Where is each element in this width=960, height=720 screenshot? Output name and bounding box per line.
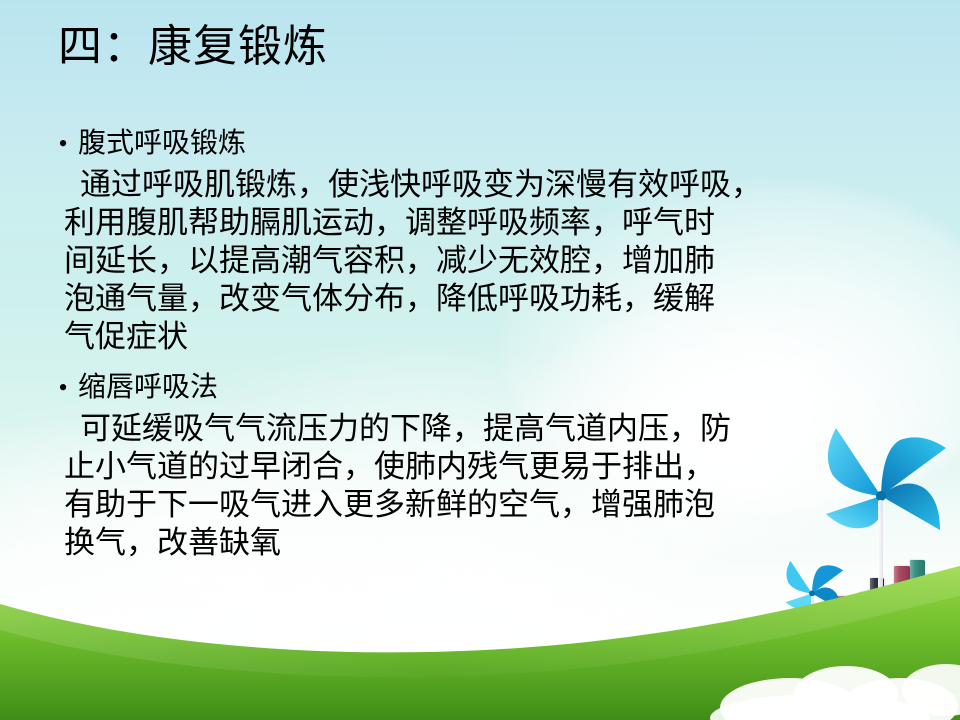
slide-canvas: 四：康复锻炼 • 腹式呼吸锻炼 通过呼吸肌锻炼，使浅快呼吸变为深慢有效呼吸， 利… [0,0,960,720]
paragraph-line: 气促症状 [64,318,928,356]
pencil-tip-icon [948,580,956,590]
crayon-row [770,649,821,664]
paragraph-line: 可延缓吸气气流压力的下降，提高气道内压，防 [64,410,928,448]
paragraph: 可延缓吸气气流压力的下降，提高气道内压，防 止小气道的过早闭合，使肺内残气更易于… [48,410,928,562]
paragraph-line: 通过呼吸肌锻炼，使浅快呼吸变为深慢有效呼吸， [64,166,928,204]
list-item: • 腹式呼吸锻炼 [48,124,928,164]
slide-body: • 腹式呼吸锻炼 通过呼吸肌锻炼，使浅快呼吸变为深慢有效呼吸， 利用腹肌帮助膈肌… [48,124,928,568]
grass-hill [0,560,960,720]
paragraph-line: 换气，改善缺氧 [64,524,928,562]
paragraph: 通过呼吸肌锻炼，使浅快呼吸变为深慢有效呼吸， 利用腹肌帮助膈肌运动，调整呼吸频率… [48,166,928,356]
paragraph-line: 间延长，以提高潮气容积，减少无效腔，增加肺 [64,242,928,280]
bullet-icon: • [48,124,78,164]
bullet-icon: • [48,368,78,408]
list-item: • 缩唇呼吸法 [48,368,928,408]
bullet-heading: 腹式呼吸锻炼 [78,124,246,164]
paragraph-line: 有助于下一吸气进入更多新鲜的空气，增强肺泡 [64,486,928,524]
bullet-heading: 缩唇呼吸法 [78,368,218,408]
paragraph-line: 泡通气量，改变气体分布，降低呼吸功耗，缓解 [64,280,928,318]
page-title: 四：康复锻炼 [58,22,328,73]
pencil-icon [948,590,956,648]
paragraph-line: 止小气道的过早闭合，使肺内残气更易于排出， [64,448,928,486]
paragraph-line: 利用腹肌帮助膈肌运动，调整呼吸频率，呼气时 [64,204,928,242]
